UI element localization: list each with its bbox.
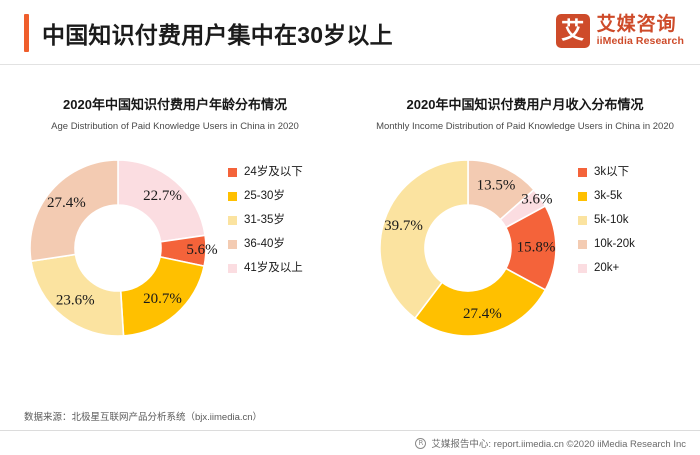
brand-wordmark: 艾媒咨询 iiMedia Research — [597, 15, 684, 47]
chart-body-age: 22.7%5.6%20.7%23.6%27.4% 24岁及以下25-30岁31-… — [0, 146, 350, 356]
legend-swatch-icon — [578, 216, 587, 225]
slice-value-label: 3.6% — [521, 191, 552, 207]
legend-label: 5k-10k — [594, 214, 629, 226]
page-title: 中国知识付费用户集中在30岁以上 — [42, 16, 393, 50]
chart-title-income: 2020年中国知识付费用户月收入分布情况 — [350, 94, 700, 113]
donut-chart-income: 13.5%3.6%15.8%27.4%39.7% — [368, 148, 568, 348]
slice-value-label: 20.7% — [143, 291, 182, 307]
donut-svg-age: 22.7%5.6%20.7%23.6%27.4% — [18, 148, 218, 348]
chart-panel-age: 2020年中国知识付费用户年龄分布情况 Age Distribution of … — [0, 80, 350, 380]
legend-age: 24岁及以下25-30岁31-35岁36-40岁41岁及以上 — [228, 166, 303, 274]
chart-panel-income: 2020年中国知识付费用户月收入分布情况 Monthly Income Dist… — [350, 80, 700, 380]
brand-name-cn: 艾媒咨询 — [597, 15, 684, 35]
brand-logo: 艾 艾媒咨询 iiMedia Research — [556, 14, 684, 48]
legend-label: 10k-20k — [594, 238, 635, 250]
legend-swatch-icon — [228, 168, 237, 177]
legend-swatch-icon — [578, 264, 587, 273]
slice-value-label: 27.4% — [463, 306, 502, 322]
legend-item[interactable]: 10k-20k — [578, 238, 635, 250]
legend-label: 20k+ — [594, 262, 619, 274]
header: 中国知识付费用户集中在30岁以上 艾 艾媒咨询 iiMedia Research — [0, 0, 700, 66]
legend-label: 31-35岁 — [244, 214, 285, 226]
chart-subtitle-age: Age Distribution of Paid Knowledge Users… — [0, 121, 350, 132]
legend-item[interactable]: 25-30岁 — [228, 190, 303, 202]
donut-slices-age — [30, 160, 206, 336]
legend-label: 3k-5k — [594, 190, 622, 202]
source-note: 数据来源：北极星互联网产品分析系统（bjx.iimedia.cn） — [24, 409, 262, 423]
legend-label: 24岁及以下 — [244, 166, 303, 178]
slice-value-label: 39.7% — [384, 218, 423, 234]
infographic-page: 中国知识付费用户集中在30岁以上 艾 艾媒咨询 iiMedia Research… — [0, 0, 700, 455]
legend-item[interactable]: 20k+ — [578, 262, 635, 274]
legend-label: 41岁及以上 — [244, 262, 303, 274]
donut-chart-age: 22.7%5.6%20.7%23.6%27.4% — [18, 148, 218, 348]
slice-value-label: 22.7% — [143, 188, 182, 204]
legend-swatch-icon — [228, 192, 237, 201]
slice-value-label: 15.8% — [517, 239, 556, 255]
slice-value-label: 5.6% — [186, 242, 217, 258]
chart-body-income: 13.5%3.6%15.8%27.4%39.7% 3k以下3k-5k5k-10k… — [350, 146, 700, 356]
legend-item[interactable]: 36-40岁 — [228, 238, 303, 250]
legend-item[interactable]: 3k以下 — [578, 166, 635, 178]
legend-label: 3k以下 — [594, 166, 629, 178]
chart-title-age: 2020年中国知识付费用户年龄分布情况 — [0, 94, 350, 113]
legend-item[interactable]: 5k-10k — [578, 214, 635, 226]
legend-label: 36-40岁 — [244, 238, 285, 250]
legend-swatch-icon — [228, 240, 237, 249]
header-divider — [0, 64, 700, 65]
legend-swatch-icon — [578, 192, 587, 201]
legend-swatch-icon — [578, 240, 587, 249]
legend-item[interactable]: 3k-5k — [578, 190, 635, 202]
footer-bar: R 艾媒报告中心: report.iimedia.cn ©2020 iiMedi… — [0, 431, 700, 455]
chart-subtitle-income: Monthly Income Distribution of Paid Know… — [350, 121, 700, 132]
legend-swatch-icon — [228, 216, 237, 225]
slice-value-label: 13.5% — [477, 177, 516, 193]
slice-value-label: 23.6% — [56, 292, 95, 308]
legend-item[interactable]: 31-35岁 — [228, 214, 303, 226]
footer-credit: 艾媒报告中心: report.iimedia.cn ©2020 iiMedia … — [431, 436, 686, 450]
registered-mark-icon: R — [415, 438, 426, 449]
legend-item[interactable]: 24岁及以下 — [228, 166, 303, 178]
legend-swatch-icon — [228, 264, 237, 273]
brand-mark-icon: 艾 — [556, 14, 590, 48]
legend-income: 3k以下3k-5k5k-10k10k-20k20k+ — [578, 166, 635, 274]
title-accent-bar — [24, 14, 29, 52]
donut-svg-income: 13.5%3.6%15.8%27.4%39.7% — [368, 148, 568, 348]
slice-value-label: 27.4% — [47, 195, 86, 211]
legend-label: 25-30岁 — [244, 190, 285, 202]
brand-name-en: iiMedia Research — [597, 35, 684, 47]
legend-item[interactable]: 41岁及以上 — [228, 262, 303, 274]
legend-swatch-icon — [578, 168, 587, 177]
